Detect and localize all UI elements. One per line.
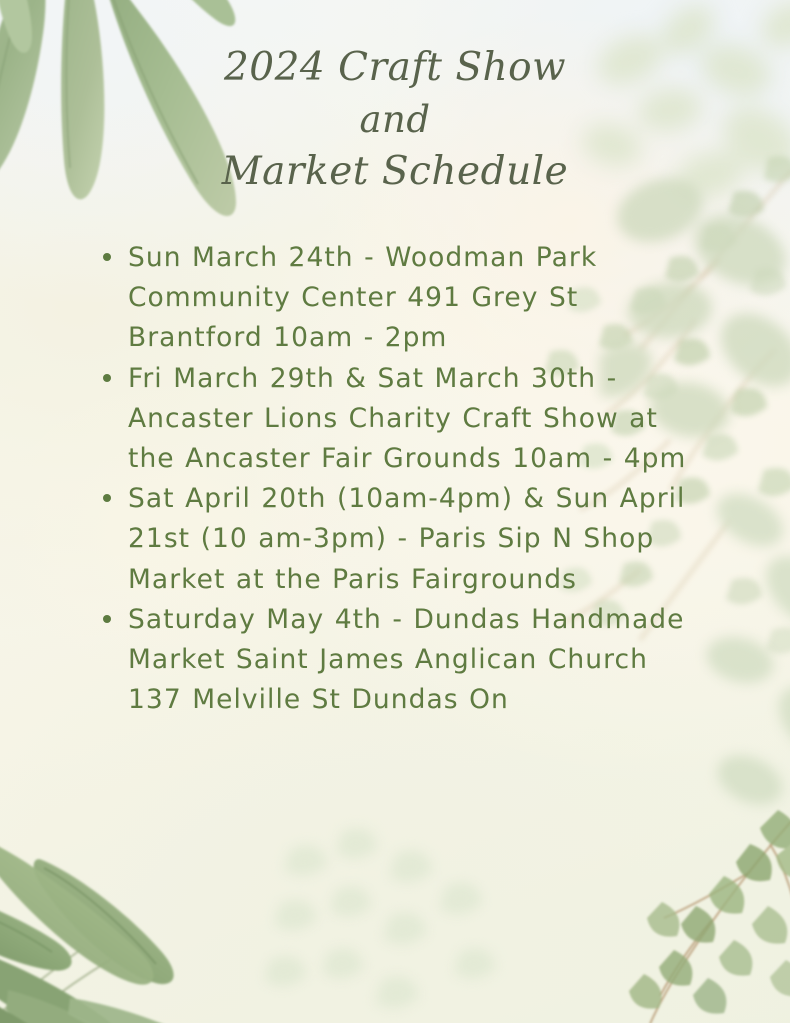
bottom-left-leaves [0,800,290,1023]
list-item-text: Sat April 20th (10am-4pm) & Sun April 21… [128,479,706,600]
list-item: Sat April 20th (10am-4pm) & Sun April 21… [96,479,706,600]
title-line-1: 2024 Craft Show [0,48,790,87]
title-line-3: Market Schedule [0,152,790,191]
bottom-center-ghost-leaves [250,820,580,1023]
poster-title: 2024 Craft Show and Market Schedule [0,48,790,191]
craft-show-flyer: 2024 Craft Show and Market Schedule Sun … [0,0,790,1023]
bottom-right-sprig [600,810,790,1023]
list-item-text: Saturday May 4th - Dundas Handmade Marke… [128,600,706,721]
list-item: Sun March 24th - Woodman Park Community … [96,238,706,359]
bullet-icon [103,615,111,623]
bullet-icon [103,253,111,261]
schedule-list: Sun March 24th - Woodman Park Community … [96,238,706,720]
list-item-text: Fri March 29th & Sat March 30th - Ancast… [128,359,706,480]
bullet-icon [103,494,111,502]
bullet-icon [103,374,111,382]
list-item-text: Sun March 24th - Woodman Park Community … [128,238,706,359]
list-item: Saturday May 4th - Dundas Handmade Marke… [96,600,706,721]
title-line-2: and [0,101,790,138]
list-item: Fri March 29th & Sat March 30th - Ancast… [96,359,706,480]
